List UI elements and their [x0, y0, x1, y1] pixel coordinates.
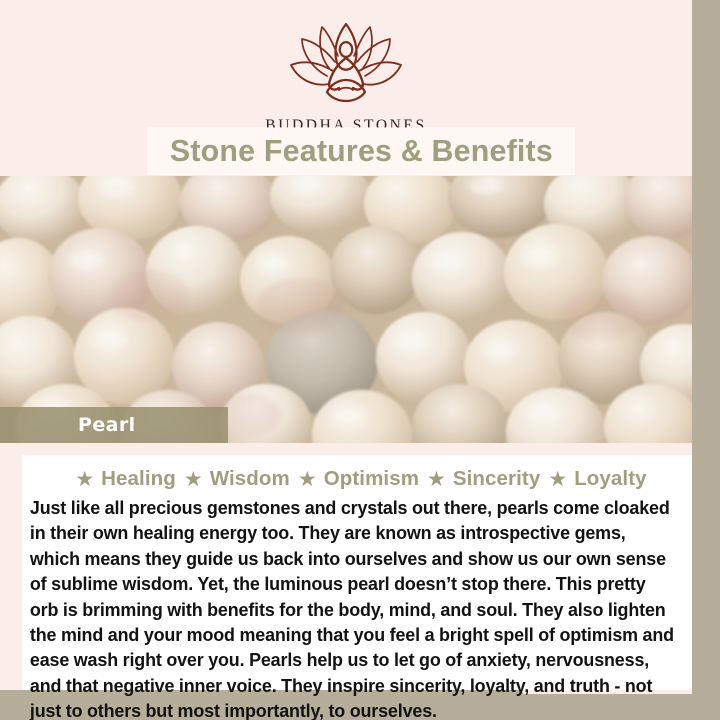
keyword-list: ★ Healing ★ Wisdom ★ Optimism ★ Sincerit…: [22, 455, 692, 491]
star-icon: ★: [75, 469, 94, 490]
star-icon: ★: [184, 469, 203, 490]
keyword-label: Loyalty: [574, 467, 646, 491]
star-icon: ★: [427, 469, 446, 490]
pearl-photo: Pearl: [0, 176, 692, 443]
brand-logo: BUDDHA STONES: [0, 18, 692, 135]
keyword-item: ★ Wisdom: [176, 467, 290, 491]
title-plaque: Stone Features & Benefits: [148, 128, 574, 174]
keyword-item: ★ Loyalty: [540, 467, 646, 491]
body-paragraph: Just like all precious gemstones and cry…: [22, 496, 682, 720]
keyword-label: Sincerity: [453, 467, 541, 491]
page-title: Stone Features & Benefits: [169, 133, 552, 169]
stone-name: Pearl: [0, 414, 136, 436]
benefits-panel: ★ Healing ★ Wisdom ★ Optimism ★ Sincerit…: [22, 455, 692, 690]
keyword-label: Healing: [101, 467, 176, 491]
lotus-meditation-icon: [0, 18, 692, 115]
header: BUDDHA STONES Stone Features & Benefits: [0, 0, 692, 176]
keyword-item: ★ Healing: [67, 467, 176, 491]
infographic-card: BUDDHA STONES Stone Features & Benefits: [0, 0, 720, 720]
keyword-item: ★ Sincerity: [419, 467, 540, 491]
star-icon: ★: [298, 469, 317, 490]
stone-name-ribbon: Pearl: [0, 407, 228, 443]
keyword-label: Optimism: [324, 467, 419, 491]
panel-top-strip: [22, 443, 692, 455]
keyword-item: ★ Optimism: [290, 467, 419, 491]
keyword-label: Wisdom: [210, 467, 290, 491]
star-icon: ★: [548, 469, 567, 490]
